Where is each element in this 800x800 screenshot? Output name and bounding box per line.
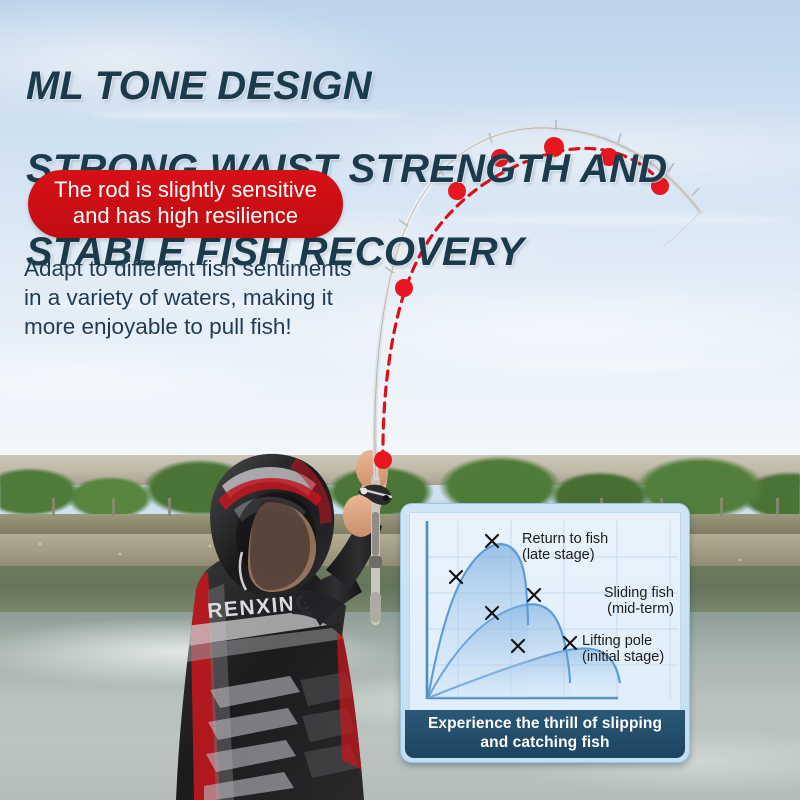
chart-marker: [564, 637, 576, 649]
headline-line-1: ML TONE DESIGN: [26, 66, 726, 108]
body-copy: Adapt to different fish sentiments in a …: [24, 255, 424, 341]
chart-label-return-to-fish: Return to fish (late stage): [522, 531, 608, 563]
poster-canvas: RENXING: [0, 0, 800, 800]
chart-label-sliding-fish: Sliding fish (mid-term): [558, 585, 674, 617]
bend-marker: [374, 451, 392, 469]
chart-marker: [450, 571, 462, 583]
chart-caption: Experience the thrill of slipping and ca…: [405, 710, 685, 758]
chart-label-lifting-pole: Lifting pole (initial stage): [582, 633, 664, 665]
chart-area-return-to-fish: [428, 544, 528, 698]
chart-card: Return to fish (late stage) Sliding fish…: [400, 503, 690, 763]
highlight-badge: The rod is slightly sensitive and has hi…: [28, 170, 343, 238]
chart-marker: [528, 589, 540, 601]
chart-plot-area: Return to fish (late stage) Sliding fish…: [409, 512, 681, 717]
